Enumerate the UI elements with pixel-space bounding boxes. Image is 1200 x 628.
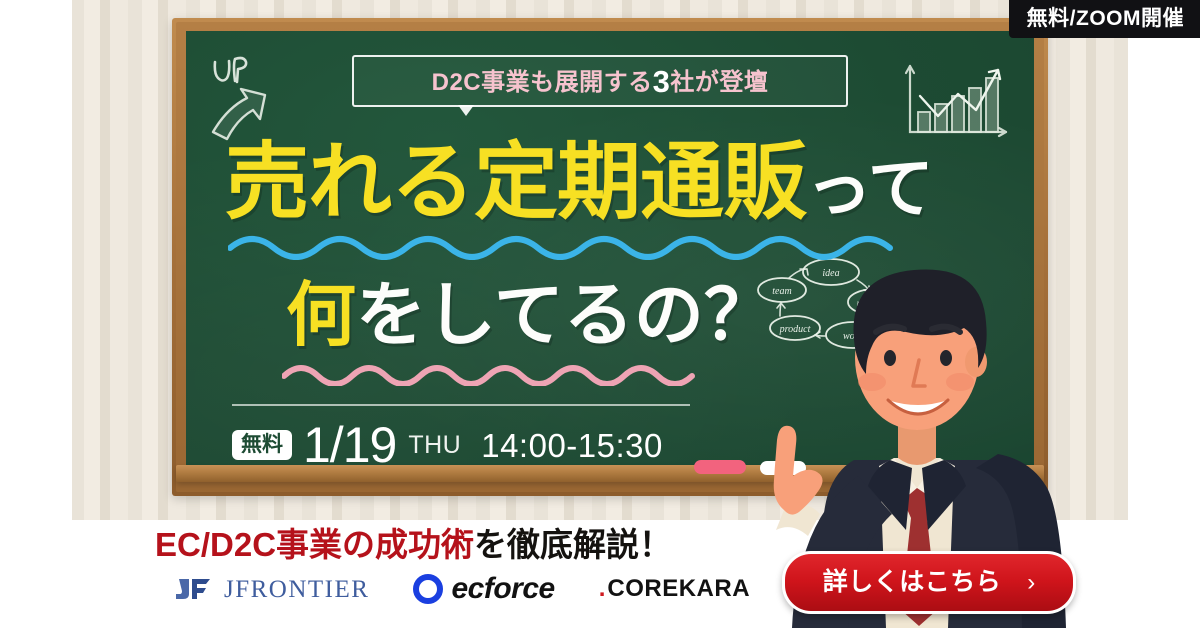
jfrontier-mark-icon bbox=[176, 575, 216, 603]
headline-line-2-rest: をしてるの？ bbox=[356, 276, 774, 354]
cta-label: 詳しくはこちら bbox=[823, 570, 1002, 595]
pink-chalk bbox=[694, 460, 746, 474]
ecforce-ring-icon bbox=[413, 574, 443, 604]
up-arrow-doodle bbox=[205, 48, 297, 149]
date-divider bbox=[232, 404, 690, 406]
wall-left-margin bbox=[0, 0, 72, 520]
bar-chart-doodle bbox=[896, 58, 1016, 147]
corekara-dot: . bbox=[599, 577, 606, 601]
logo-corekara: . COREKARA bbox=[599, 572, 750, 606]
webinar-banner: idea team product work marketing D2C事業も展… bbox=[0, 0, 1200, 628]
bubble-text-after: 社が登壇 bbox=[670, 69, 768, 96]
ecforce-wordmark: ecforce bbox=[451, 574, 554, 604]
pink-wave-underline bbox=[282, 356, 702, 391]
cta-button[interactable]: 詳しくはこちら › bbox=[782, 551, 1076, 614]
chevron-right-icon: › bbox=[1027, 571, 1035, 595]
speech-bubble-text: D2C事業も展開する3社が登壇 bbox=[432, 62, 769, 100]
bubble-text-before: D2C事業も展開する bbox=[432, 69, 653, 96]
corekara-wordmark: COREKARA bbox=[607, 577, 750, 601]
wall-right-margin bbox=[1128, 0, 1200, 520]
logo-ecforce: ecforce bbox=[413, 572, 554, 606]
logo-jfrontier: JFRONTIER bbox=[176, 572, 369, 606]
jfrontier-wordmark: JFRONTIER bbox=[224, 577, 369, 602]
sponsor-logos: JFRONTIER ecforce . COREKARA bbox=[176, 572, 750, 606]
headline-line-1-highlight: 売れる定期通販 bbox=[225, 135, 806, 229]
bubble-number: 3 bbox=[653, 64, 671, 99]
schedule-row: 無料 1/19 THU 14:00-15:30 bbox=[232, 420, 663, 470]
event-time: 14:00-15:30 bbox=[472, 429, 663, 462]
headline-line-2-highlight: 何 bbox=[286, 276, 356, 354]
tagline-red: EC/D2C事業の成功術 bbox=[155, 526, 474, 563]
event-day-of-week: THU bbox=[407, 433, 461, 458]
speech-bubble: D2C事業も展開する3社が登壇 bbox=[352, 55, 848, 107]
tagline: EC/D2C事業の成功術を徹底解説！ bbox=[155, 518, 672, 566]
zoom-badge: 無料/ZOOM開催 bbox=[1009, 0, 1200, 38]
free-badge: 無料 bbox=[232, 430, 292, 460]
headline-line-2: 何をしてるの？ bbox=[286, 280, 774, 350]
event-date: 1/19 bbox=[303, 420, 396, 470]
tagline-black: を徹底解説！ bbox=[474, 526, 672, 563]
